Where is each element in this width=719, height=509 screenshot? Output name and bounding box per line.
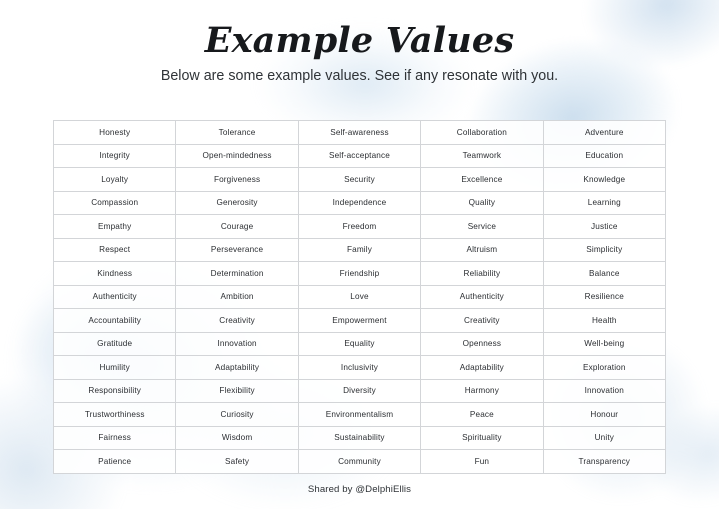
value-cell: Respect (54, 238, 176, 262)
value-cell: Adventure (543, 121, 665, 145)
value-cell: Creativity (421, 309, 543, 333)
table-row: KindnessDeterminationFriendshipReliabili… (54, 262, 666, 286)
value-cell: Excellence (421, 168, 543, 192)
value-cell: Patience (54, 450, 176, 474)
table-row: PatienceSafetyCommunityFunTransparency (54, 450, 666, 474)
value-cell: Empowerment (298, 309, 420, 333)
value-cell: Well-being (543, 332, 665, 356)
value-cell: Family (298, 238, 420, 262)
value-cell: Peace (421, 403, 543, 427)
value-cell: Tolerance (176, 121, 298, 145)
table-row: CompassionGenerosityIndependenceQualityL… (54, 191, 666, 215)
table-row: HonestyToleranceSelf-awarenessCollaborat… (54, 121, 666, 145)
value-cell: Balance (543, 262, 665, 286)
value-cell: Exploration (543, 356, 665, 380)
value-cell: Accountability (54, 309, 176, 333)
values-table: HonestyToleranceSelf-awarenessCollaborat… (53, 120, 666, 474)
value-cell: Education (543, 144, 665, 168)
value-cell: Fun (421, 450, 543, 474)
table-row: LoyaltyForgivenessSecurityExcellenceKnow… (54, 168, 666, 192)
value-cell: Love (298, 285, 420, 309)
table-row: AuthenticityAmbitionLoveAuthenticityResi… (54, 285, 666, 309)
value-cell: Wisdom (176, 426, 298, 450)
value-cell: Diversity (298, 379, 420, 403)
value-cell: Security (298, 168, 420, 192)
value-cell: Resilience (543, 285, 665, 309)
value-cell: Sustainability (298, 426, 420, 450)
value-cell: Generosity (176, 191, 298, 215)
value-cell: Open-mindedness (176, 144, 298, 168)
value-cell: Gratitude (54, 332, 176, 356)
table-row: HumilityAdaptabilityInclusivityAdaptabil… (54, 356, 666, 380)
table-row: TrustworthinessCuriosityEnvironmentalism… (54, 403, 666, 427)
value-cell: Inclusivity (298, 356, 420, 380)
value-cell: Innovation (543, 379, 665, 403)
value-cell: Empathy (54, 215, 176, 239)
value-cell: Integrity (54, 144, 176, 168)
value-cell: Self-awareness (298, 121, 420, 145)
value-cell: Trustworthiness (54, 403, 176, 427)
value-cell: Ambition (176, 285, 298, 309)
value-cell: Harmony (421, 379, 543, 403)
value-cell: Forgiveness (176, 168, 298, 192)
value-cell: Adaptability (421, 356, 543, 380)
table-row: GratitudeInnovationEqualityOpennessWell-… (54, 332, 666, 356)
value-cell: Altruism (421, 238, 543, 262)
table-row: EmpathyCourageFreedomServiceJustice (54, 215, 666, 239)
value-cell: Community (298, 450, 420, 474)
value-cell: Spirituality (421, 426, 543, 450)
page-subtitle: Below are some example values. See if an… (0, 66, 719, 86)
value-cell: Safety (176, 450, 298, 474)
value-cell: Knowledge (543, 168, 665, 192)
table-row: IntegrityOpen-mindednessSelf-acceptanceT… (54, 144, 666, 168)
table-row: AccountabilityCreativityEmpowermentCreat… (54, 309, 666, 333)
value-cell: Equality (298, 332, 420, 356)
value-cell: Health (543, 309, 665, 333)
value-cell: Compassion (54, 191, 176, 215)
value-cell: Learning (543, 191, 665, 215)
value-cell: Perseverance (176, 238, 298, 262)
value-cell: Creativity (176, 309, 298, 333)
value-cell: Loyalty (54, 168, 176, 192)
value-cell: Environmentalism (298, 403, 420, 427)
value-cell: Flexibility (176, 379, 298, 403)
footer-credit: Shared by @DelphiEllis (0, 483, 719, 497)
value-cell: Quality (421, 191, 543, 215)
value-cell: Justice (543, 215, 665, 239)
value-cell: Adaptability (176, 356, 298, 380)
value-cell: Kindness (54, 262, 176, 286)
value-cell: Collaboration (421, 121, 543, 145)
page-canvas: Example Values Below are some example va… (0, 0, 719, 509)
value-cell: Fairness (54, 426, 176, 450)
value-cell: Authenticity (54, 285, 176, 309)
value-cell: Authenticity (421, 285, 543, 309)
value-cell: Courage (176, 215, 298, 239)
value-cell: Simplicity (543, 238, 665, 262)
table-row: FairnessWisdomSustainabilitySpirituality… (54, 426, 666, 450)
value-cell: Humility (54, 356, 176, 380)
value-cell: Service (421, 215, 543, 239)
value-cell: Determination (176, 262, 298, 286)
value-cell: Honour (543, 403, 665, 427)
values-table-body: HonestyToleranceSelf-awarenessCollaborat… (54, 121, 666, 474)
value-cell: Freedom (298, 215, 420, 239)
table-row: ResponsibilityFlexibilityDiversityHarmon… (54, 379, 666, 403)
value-cell: Reliability (421, 262, 543, 286)
value-cell: Innovation (176, 332, 298, 356)
value-cell: Teamwork (421, 144, 543, 168)
value-cell: Curiosity (176, 403, 298, 427)
value-cell: Honesty (54, 121, 176, 145)
value-cell: Openness (421, 332, 543, 356)
value-cell: Responsibility (54, 379, 176, 403)
value-cell: Self-acceptance (298, 144, 420, 168)
value-cell: Friendship (298, 262, 420, 286)
value-cell: Independence (298, 191, 420, 215)
page-title: Example Values (0, 19, 719, 63)
table-row: RespectPerseveranceFamilyAltruismSimplic… (54, 238, 666, 262)
value-cell: Transparency (543, 450, 665, 474)
value-cell: Unity (543, 426, 665, 450)
